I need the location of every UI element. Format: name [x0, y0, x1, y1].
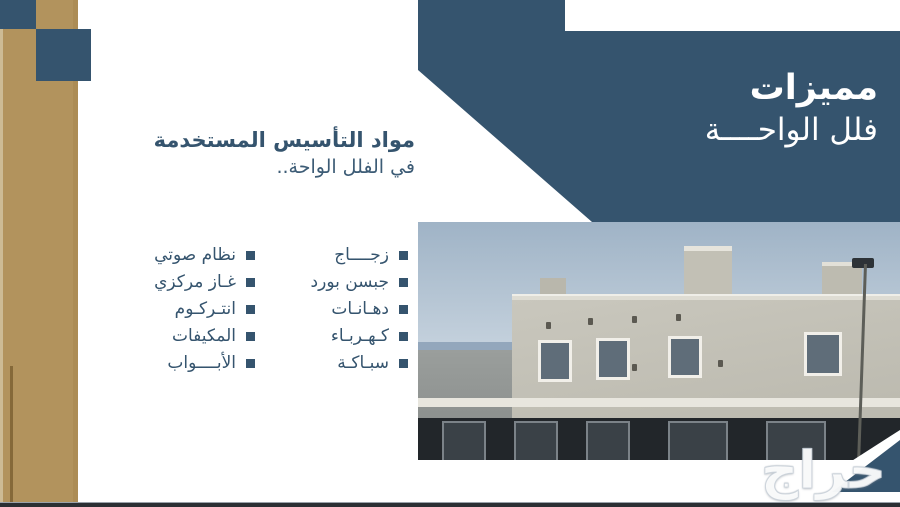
list-item: جبسن بورد: [277, 272, 408, 292]
list-item: غـاز مركزي: [132, 272, 255, 292]
photo-window: [804, 332, 842, 376]
square-bullet-icon: [246, 305, 255, 314]
photo-scaffold-hole: [546, 322, 551, 329]
list-item-label: نظام صوتي: [132, 245, 236, 265]
list-item-label: جبسن بورد: [277, 272, 389, 292]
list-item-label: زجــــاج: [277, 245, 389, 265]
list-item: كـهـربـاء: [277, 326, 408, 346]
gold-bar-inner-line: [10, 366, 13, 507]
list-item-label: كـهـربـاء: [277, 326, 389, 346]
list-item: المكيفات: [132, 326, 255, 346]
navy-square-large: [36, 29, 91, 81]
photo-window: [538, 340, 572, 382]
list-item-label: الأبــــواب: [132, 353, 236, 373]
photo-ground-floor-shadow: [418, 418, 900, 466]
list-item: زجــــاج: [277, 245, 408, 265]
square-bullet-icon: [399, 305, 408, 314]
materials-list-left: نظام صوتي غـاز مركزي انتـركـوم المكيفات …: [132, 245, 255, 373]
list-item-label: المكيفات: [132, 326, 236, 346]
photo-facade-band: [418, 398, 900, 407]
square-bullet-icon: [246, 359, 255, 368]
list-item-label: انتـركـوم: [132, 299, 236, 319]
materials-list-right: زجــــاج جبسن بورد دهـانـات كـهـربـاء سب…: [277, 245, 408, 373]
square-bullet-icon: [399, 359, 408, 368]
bottom-divider: [0, 503, 900, 507]
square-bullet-icon: [246, 332, 255, 341]
materials-lists: زجــــاج جبسن بورد دهـانـات كـهـربـاء سب…: [78, 245, 408, 373]
section-heading-line-1: مواد التأسيس المستخدمة: [78, 128, 415, 152]
square-bullet-icon: [399, 332, 408, 341]
photo-scaffold-hole: [676, 314, 681, 321]
page-title: مميزات: [705, 70, 878, 107]
list-item: انتـركـوم: [132, 299, 255, 319]
navy-square-small: [0, 0, 36, 29]
list-item-label: دهـانـات: [277, 299, 389, 319]
photo-window: [596, 338, 630, 380]
photo-window: [668, 336, 702, 378]
slide-title-block: مميزات فلل الواحــــة: [705, 70, 878, 146]
page-subtitle: فلل الواحــــة: [705, 114, 878, 147]
section-heading: مواد التأسيس المستخدمة في الفلل الواحة..: [78, 128, 423, 179]
square-bullet-icon: [399, 251, 408, 260]
list-item: الأبــــواب: [132, 353, 255, 373]
presentation-slide: مميزات فلل الواحــــة مواد التأسيس المست…: [0, 0, 900, 507]
square-bullet-icon: [399, 278, 408, 287]
photo-garage-door: [766, 421, 826, 465]
photo-scaffold-hole: [632, 316, 637, 323]
photo-scaffold-hole: [588, 318, 593, 325]
list-item-label: غـاز مركزي: [132, 272, 236, 292]
photo-garage-door: [442, 421, 486, 465]
square-bullet-icon: [246, 278, 255, 287]
square-bullet-icon: [246, 251, 255, 260]
photo-garage-door: [514, 421, 558, 465]
photo-garage-door: [586, 421, 630, 465]
list-item: دهـانـات: [277, 299, 408, 319]
list-item-label: سبـاكـة: [277, 353, 389, 373]
photo-garage-door: [668, 421, 728, 465]
list-item: سبـاكـة: [277, 353, 408, 373]
list-item: نظام صوتي: [132, 245, 255, 265]
photo-scaffold-hole: [718, 360, 723, 367]
photo-scaffold-hole: [632, 364, 637, 371]
section-heading-line-2: في الفلل الواحة..: [78, 157, 415, 179]
